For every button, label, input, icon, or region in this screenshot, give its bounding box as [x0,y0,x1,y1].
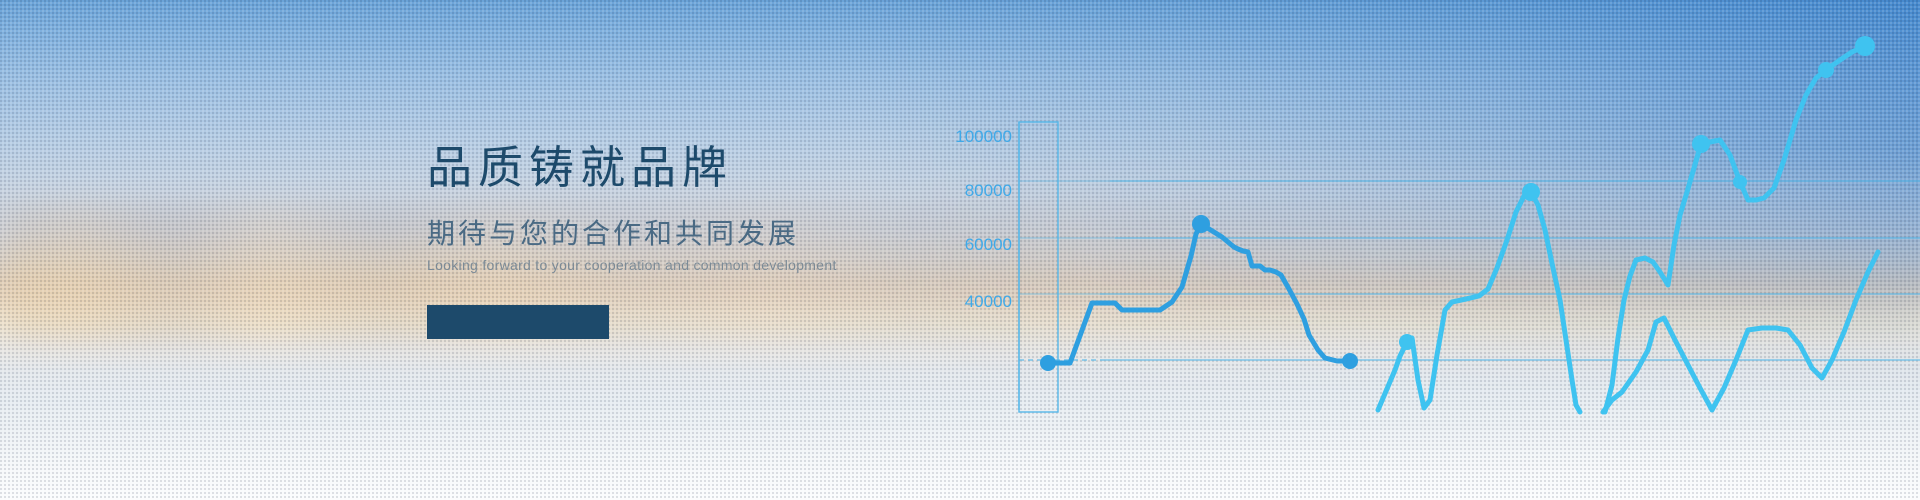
cta-button[interactable] [427,305,609,339]
y-tick-100000: 100000 [955,127,1012,146]
chart-marker [1342,353,1358,369]
chart-marker [1818,62,1834,78]
hero-banner: 100000 80000 60000 40000 [0,0,1920,500]
y-tick-60000: 60000 [965,235,1012,254]
tagline-english: Looking forward to your cooperation and … [427,258,837,272]
chart-svg: 100000 80000 60000 40000 [900,0,1920,500]
chart-marker [1192,215,1210,233]
chart-series-2 [1378,183,1580,412]
chart-marker [1399,334,1415,350]
chart-marker [1855,36,1875,56]
chart-series-4 [1603,252,1878,412]
y-tick-40000: 40000 [965,292,1012,311]
chart-marker [1733,175,1747,189]
chart-marker [1522,183,1540,201]
hero-copy: 品质铸就品牌 期待与您的合作和共同发展 Looking forward to y… [427,145,837,272]
y-tick-80000: 80000 [965,181,1012,200]
chart-gridlines [1019,181,1920,360]
line-chart: 100000 80000 60000 40000 [900,0,1920,500]
chart-marker [1692,135,1710,153]
page-title: 品质铸就品牌 [427,145,837,190]
subtitle-chinese: 期待与您的合作和共同发展 [427,220,837,248]
chart-marker [1040,355,1056,371]
